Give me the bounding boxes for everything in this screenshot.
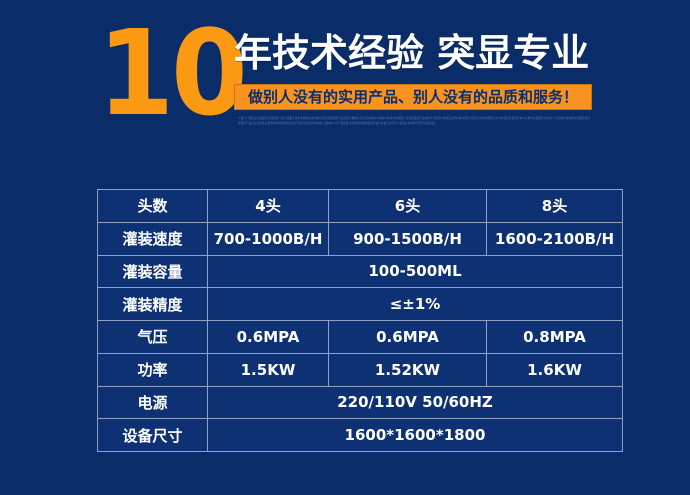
cell-value: 8头 bbox=[487, 190, 623, 223]
cell-value: 1.6KW bbox=[487, 353, 623, 386]
spec-table-body: 头数 4头 6头 8头 灌装速度 700-1000B/H 900-1500B/H… bbox=[98, 190, 623, 452]
headline-text: 年技术经验 突显专业 bbox=[234, 28, 589, 78]
fineprint-paragraph: 人这可以确实是这设备的主要流程介绍以及相关技术参数的描述内容信息的完整说明与展示… bbox=[238, 116, 590, 133]
row-label: 功率 bbox=[98, 353, 208, 386]
cell-value: 6头 bbox=[329, 190, 487, 223]
cell-value-merged: 100-500ML bbox=[208, 255, 623, 288]
table-row: 灌装速度 700-1000B/H 900-1500B/H 1600-2100B/… bbox=[98, 222, 623, 255]
row-label: 设备尺寸 bbox=[98, 419, 208, 452]
specification-table: 头数 4头 6头 8头 灌装速度 700-1000B/H 900-1500B/H… bbox=[97, 189, 623, 452]
cell-value: 700-1000B/H bbox=[208, 222, 329, 255]
table-row: 功率 1.5KW 1.52KW 1.6KW bbox=[98, 353, 623, 386]
years-number: 10 bbox=[97, 14, 234, 132]
cell-value: 1.52KW bbox=[329, 353, 487, 386]
subtitle-banner: 做别人没有的实用产品、别人没有的品质和服务！ bbox=[234, 84, 592, 110]
cell-value: 0.6MPA bbox=[329, 321, 487, 354]
promo-banner-page: 10 年技术经验 突显专业 做别人没有的实用产品、别人没有的品质和服务！ 人这可… bbox=[0, 0, 690, 495]
subtitle-text: 做别人没有的实用产品、别人没有的品质和服务！ bbox=[248, 90, 578, 105]
row-label: 灌装容量 bbox=[98, 255, 208, 288]
row-label: 头数 bbox=[98, 190, 208, 223]
table-row: 灌装容量 100-500ML bbox=[98, 255, 623, 288]
table-row: 电源 220/110V 50/60HZ bbox=[98, 386, 623, 419]
table-row: 气压 0.6MPA 0.6MPA 0.8MPA bbox=[98, 321, 623, 354]
cell-value: 0.6MPA bbox=[208, 321, 329, 354]
row-label: 灌装速度 bbox=[98, 222, 208, 255]
cell-value-merged: ≤±1% bbox=[208, 288, 623, 321]
table-row: 灌装精度 ≤±1% bbox=[98, 288, 623, 321]
cell-value: 4头 bbox=[208, 190, 329, 223]
cell-value: 1600-2100B/H bbox=[487, 222, 623, 255]
table-row: 头数 4头 6头 8头 bbox=[98, 190, 623, 223]
row-label: 电源 bbox=[98, 386, 208, 419]
cell-value-merged: 1600*1600*1800 bbox=[208, 419, 623, 452]
cell-value: 0.8MPA bbox=[487, 321, 623, 354]
table-row: 设备尺寸 1600*1600*1800 bbox=[98, 419, 623, 452]
row-label: 气压 bbox=[98, 321, 208, 354]
cell-value: 1.5KW bbox=[208, 353, 329, 386]
cell-value-merged: 220/110V 50/60HZ bbox=[208, 386, 623, 419]
cell-value: 900-1500B/H bbox=[329, 222, 487, 255]
row-label: 灌装精度 bbox=[98, 288, 208, 321]
hero-section: 10 年技术经验 突显专业 做别人没有的实用产品、别人没有的品质和服务！ 人这可… bbox=[0, 0, 690, 175]
